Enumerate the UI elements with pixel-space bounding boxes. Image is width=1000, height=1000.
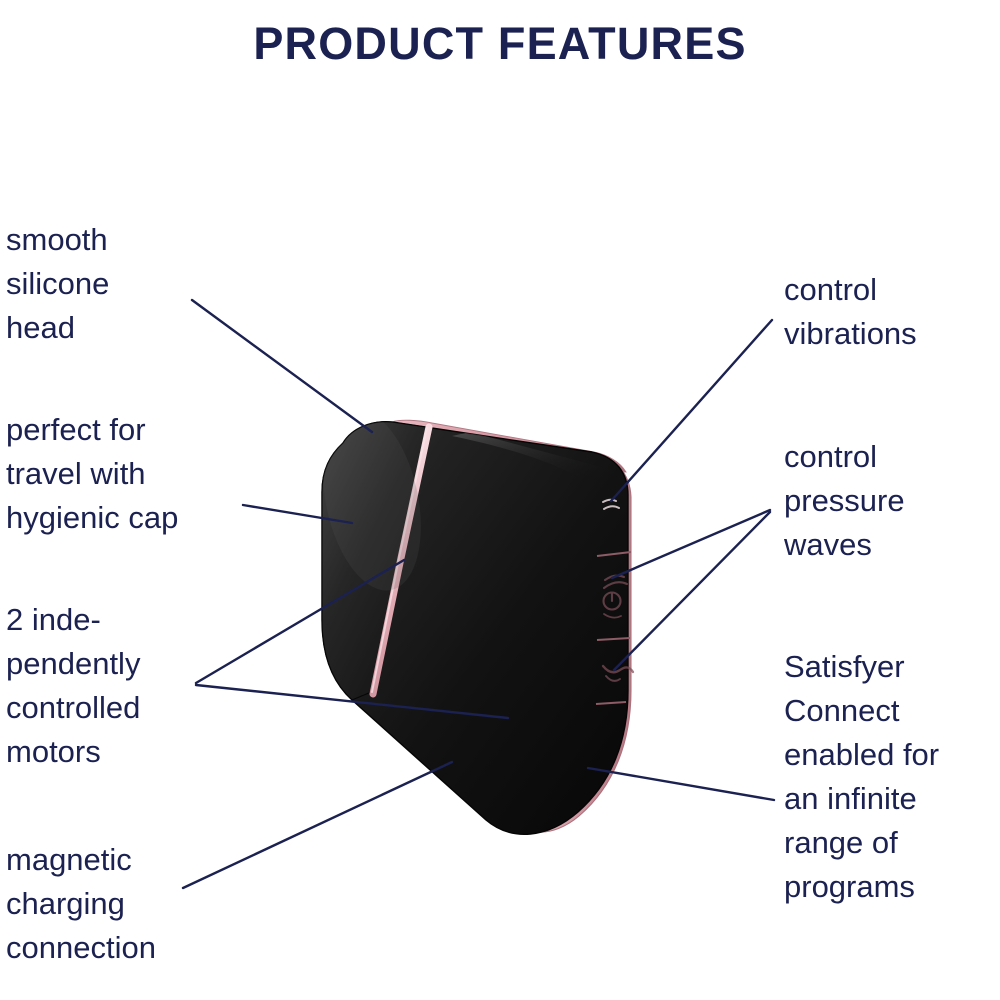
leader-magnetic [183,762,452,888]
leader-smooth-head [192,300,372,432]
leader-lines [0,0,1000,1000]
leader-pressure-b [614,512,770,670]
leader-vibrations [611,320,772,501]
leader-pressure-a [612,510,770,578]
product-features-diagram: PRODUCT FEATURES [0,0,1000,1000]
leader-travel-cap [243,505,352,523]
leader-motors-a [196,560,404,683]
leader-motors-b [196,685,508,718]
leader-connect [588,768,774,800]
